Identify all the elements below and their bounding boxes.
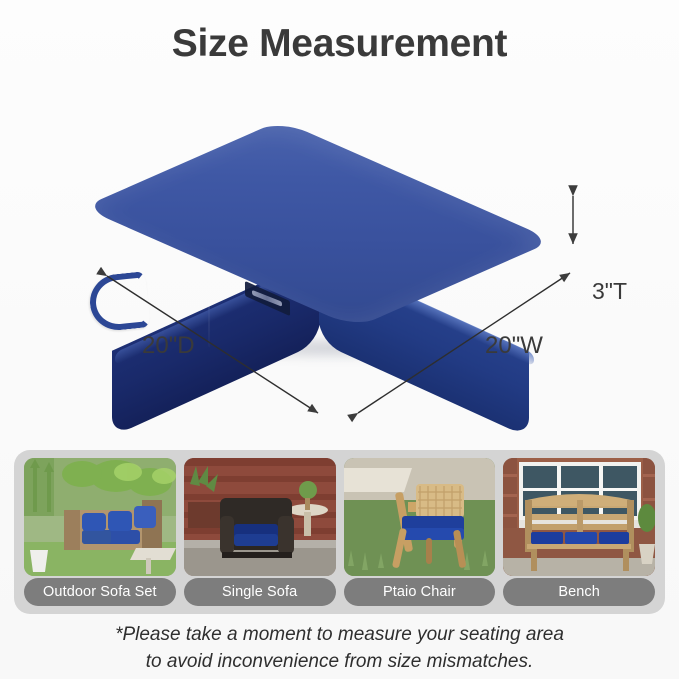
thumbnail-outdoor-sofa-set[interactable] [24, 458, 176, 576]
cushion-illustration [88, 88, 568, 418]
thumbnail-row [24, 458, 655, 576]
caption-bench: Bench [503, 578, 655, 606]
width-label: 20"W [485, 332, 543, 360]
footer-note: *Please take a moment to measure your se… [0, 622, 679, 676]
thumbnail-bench[interactable] [503, 458, 655, 576]
thumbnail-single-sofa[interactable] [184, 458, 336, 576]
cushion-top-face [82, 120, 554, 328]
cushion-crease-b [162, 264, 164, 335]
footer-line-1: *Please take a moment to measure your se… [0, 622, 679, 649]
depth-label: 20"D [142, 332, 195, 360]
application-gallery-panel: Outdoor Sofa Set Single Sofa Ptaio Chair… [14, 450, 665, 614]
footer-line-2: to avoid inconvenience from size mismatc… [0, 649, 679, 676]
thickness-label: 3"T [592, 278, 627, 305]
caption-patio-chair: Ptaio Chair [344, 578, 496, 606]
caption-single-sofa: Single Sofa [184, 578, 336, 606]
caption-row: Outdoor Sofa Set Single Sofa Ptaio Chair… [24, 578, 655, 606]
infographic-page: Size Measurement [0, 0, 679, 679]
thumbnail-patio-chair[interactable] [344, 458, 496, 576]
caption-outdoor-sofa-set: Outdoor Sofa Set [24, 578, 176, 606]
product-hero-stage: 3"T 20"D 20"W [0, 80, 679, 440]
page-title: Size Measurement [0, 22, 679, 66]
carry-handle-icon [87, 271, 151, 333]
